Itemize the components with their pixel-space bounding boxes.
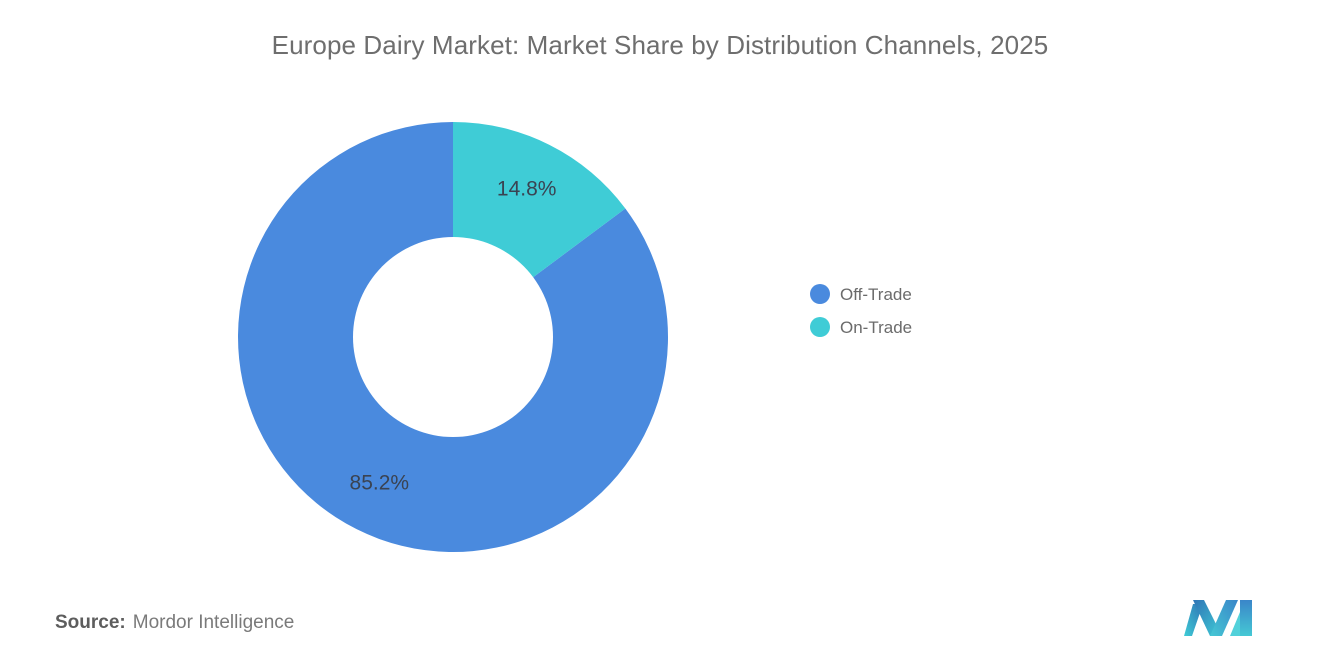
slice-label-off-trade: 85.2% [350,471,410,494]
brand-logo-svg [1182,596,1262,640]
legend-swatch-icon-on-trade [810,317,830,337]
slice-label-on-trade: 14.8% [497,178,557,201]
legend-swatch-icon-off-trade [810,284,830,304]
donut-chart: 14.8% 85.2% [238,122,668,552]
legend-item-off-trade[interactable]: Off-Trade [810,283,912,305]
legend-label-off-trade: Off-Trade [840,286,912,303]
source-label: Source: [55,612,126,633]
donut-chart-svg: 14.8% 85.2% [238,122,668,552]
legend: Off-Trade On-Trade [810,283,912,338]
legend-item-on-trade[interactable]: On-Trade [810,316,912,338]
source-value: Mordor Intelligence [133,612,295,633]
legend-label-on-trade: On-Trade [840,319,912,336]
page-title: Europe Dairy Market: Market Share by Dis… [0,30,1320,61]
mordor-intelligence-logo-icon [1182,596,1262,640]
donut-hole [353,237,553,437]
source-note: Source:Mordor Intelligence [55,612,294,634]
